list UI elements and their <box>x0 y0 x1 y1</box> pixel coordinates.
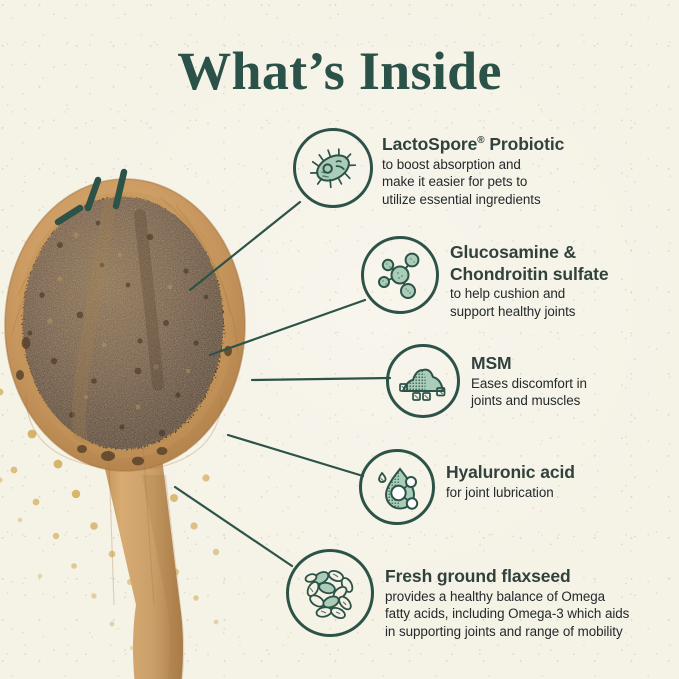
callout-title-msm: MSM <box>471 353 587 374</box>
page-title: What’s Inside <box>0 44 679 98</box>
callout-lactospore[interactable]: LactoSpore® Probiotic to boost absorptio… <box>293 128 564 209</box>
registered-mark: ® <box>477 135 484 146</box>
sparkle-lines <box>50 160 180 240</box>
callout-title-tail: Probiotic <box>485 134 565 154</box>
callout-title-lactospore: LactoSpore® Probiotic <box>382 134 564 155</box>
callout-text-lactospore: LactoSpore® Probiotic to boost absorptio… <box>382 132 564 209</box>
flaxseed-cluster-icon <box>286 549 374 637</box>
molecule-icon <box>361 236 439 314</box>
callout-text-hyaluronic-acid: Hyaluronic acid for joint lubrication <box>446 460 575 501</box>
callout-desc-hyaluronic-acid: for joint lubrication <box>446 484 575 502</box>
callout-text-flaxseed: Fresh ground flaxseed provides a healthy… <box>385 564 629 641</box>
callout-msm[interactable]: MSM Eases discomfort in joints and muscl… <box>386 344 587 418</box>
callout-desc-flaxseed: provides a healthy balance of Omega fatt… <box>385 588 629 641</box>
callout-desc-msm: Eases discomfort in joints and muscles <box>471 375 587 411</box>
callout-hyaluronic-acid[interactable]: Hyaluronic acid for joint lubrication <box>359 449 575 525</box>
callout-flaxseed[interactable]: Fresh ground flaxseed provides a healthy… <box>286 549 629 641</box>
water-droplet-icon <box>359 449 435 525</box>
callout-title-hyaluronic-acid: Hyaluronic acid <box>446 462 575 483</box>
callout-title-flaxseed: Fresh ground flaxseed <box>385 566 629 587</box>
bacteria-icon <box>293 128 373 208</box>
powder-pile-icon <box>386 344 460 418</box>
callout-title-glucosamine-line2: Chondroitin sulfate <box>450 264 609 285</box>
infographic-canvas: What’s Inside <box>0 0 679 679</box>
callout-title-main: LactoSpore <box>382 134 477 154</box>
callout-desc-lactospore: to boost absorption and make it easier f… <box>382 156 564 209</box>
callout-title-glucosamine: Glucosamine & <box>450 242 609 263</box>
callout-glucosamine[interactable]: Glucosamine & Chondroitin sulfate to hel… <box>361 236 609 321</box>
callout-desc-glucosamine: to help cushion and support healthy join… <box>450 285 609 321</box>
callout-text-glucosamine: Glucosamine & Chondroitin sulfate to hel… <box>450 240 609 321</box>
callout-text-msm: MSM Eases discomfort in joints and muscl… <box>471 351 587 410</box>
wooden-spoon-with-powder <box>0 175 330 679</box>
